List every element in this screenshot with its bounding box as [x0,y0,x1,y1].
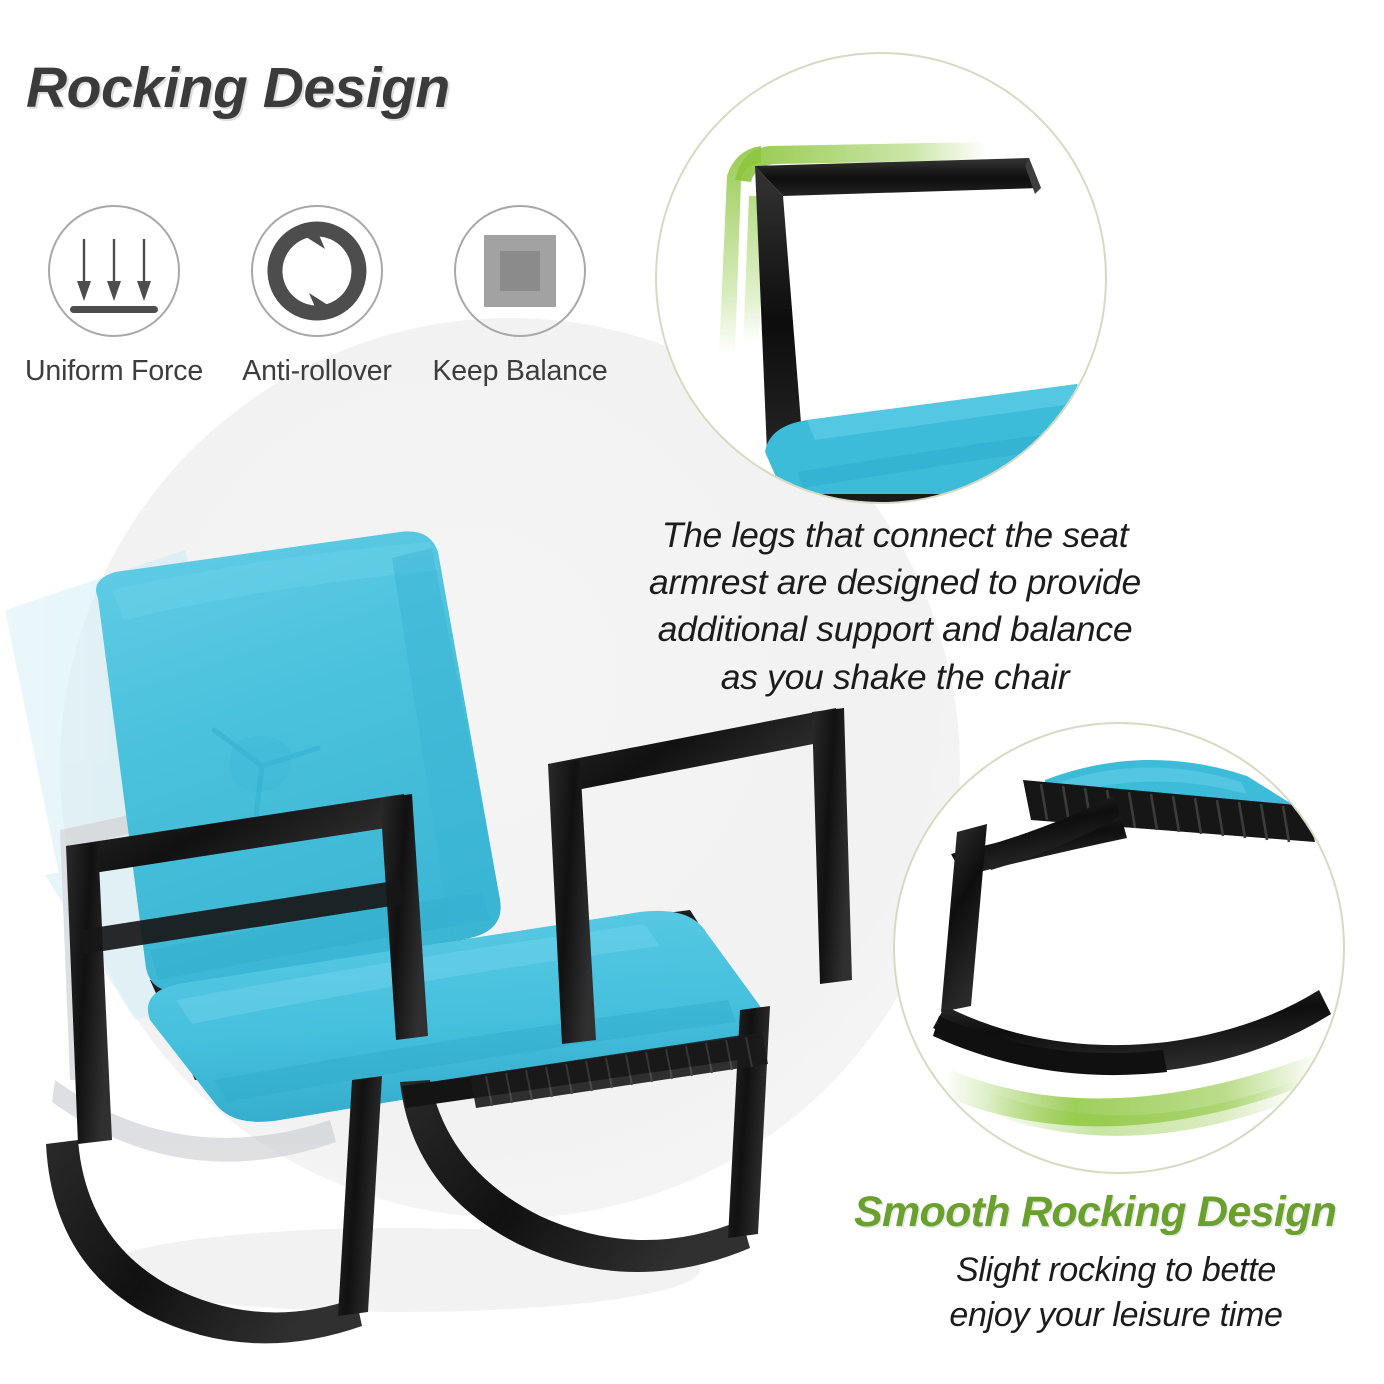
rocker-base-detail [895,724,1343,1172]
feature-icon-row: Uniform Force Anti-rollover Keep Balance [14,205,614,400]
rocker-base-detail-circle [893,722,1345,1174]
uniform-force-icon [50,207,178,335]
right-rear-post [812,708,852,984]
icon-ring [454,205,586,337]
anti-rollover-icon [253,207,381,335]
smooth-rocking-caption: Slight rocking to bette enjoy your leisu… [866,1248,1366,1338]
page-title: Rocking Design [26,55,450,121]
caption-line: armrest are designed to provide [600,559,1190,606]
caption-line: additional support and balance [600,606,1190,653]
feature-label: Anti-rollover [217,355,417,388]
feature-label: Keep Balance [420,355,620,388]
icon-ring [48,205,180,337]
armrest-detail-caption: The legs that connect the seat armrest a… [600,512,1190,701]
armrest-frame-detail-circle [655,52,1107,504]
right-armrest-rail [548,708,844,794]
feature-label: Uniform Force [14,355,214,388]
infographic-canvas: Rocking Design U [0,0,1384,1384]
caption-line: as you shake the chair [600,654,1190,701]
caption-line: enjoy your leisure time [866,1293,1366,1338]
armrest-frame-detail [657,54,1105,502]
caption-line: The legs that connect the seat [600,512,1190,559]
feature-keep-balance: Keep Balance [420,205,620,388]
feature-uniform-force: Uniform Force [14,205,214,388]
smooth-rocking-heading: Smooth Rocking Design [854,1188,1384,1237]
icon-ring [251,205,383,337]
keep-balance-icon [456,207,584,335]
feature-anti-rollover: Anti-rollover [217,205,417,388]
caption-line: Slight rocking to bette [866,1248,1366,1293]
